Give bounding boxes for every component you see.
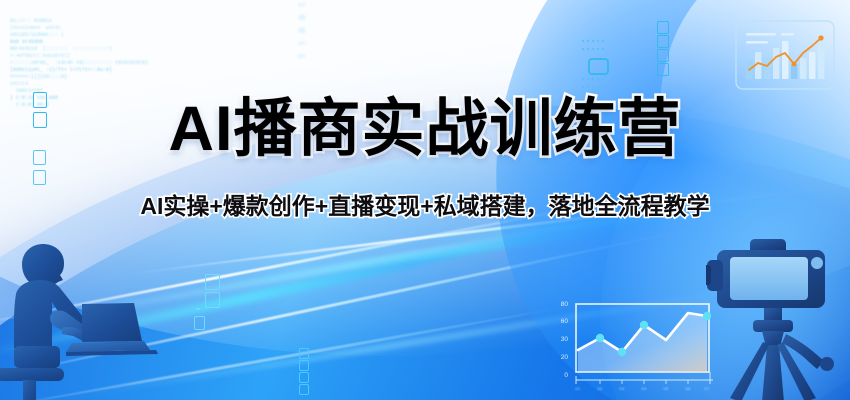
page-subtitle: AI实操+爆款创作+直播变现+私域搭建，落地全流程教学: [0, 187, 850, 221]
deco-square-wave-f: [299, 372, 309, 383]
deco-square-wave-e: [299, 360, 309, 371]
deco-square-col-a: [657, 21, 669, 34]
chart-y-tick-80: 80: [554, 301, 568, 308]
chart-x-tick-6: 06: [680, 386, 696, 391]
chart-x-tick-1: 01: [570, 386, 586, 391]
chart-y-tick-0: 0: [554, 372, 568, 379]
chart-x-tick-2: 02: [592, 386, 608, 391]
chart-y-tick-60: 60: [554, 318, 568, 325]
deco-square-wave-g: [299, 384, 309, 395]
deco-square-col-b: [657, 35, 669, 48]
deco-dot-wave: [196, 308, 200, 310]
deco-square-wave-c: [194, 316, 205, 330]
deco-square-wave-d: [299, 348, 309, 359]
deco-rounded-square: [588, 58, 609, 75]
bar-chart-growth-icon: [735, 20, 835, 90]
deco-square-col-d: [657, 63, 669, 76]
deco-square-tl-d: [33, 170, 46, 185]
person-at-laptop-icon: [0, 236, 179, 400]
deco-square-col-c: [657, 49, 669, 62]
chart-x-tick-4: 04: [636, 386, 652, 391]
camera-tripod-icon: [706, 230, 850, 400]
deco-binary-column: 1 0 0 1 1: [296, 2, 306, 60]
page-title: AI播商实战训练营: [0, 98, 850, 161]
chart-y-tick-20: 20: [554, 354, 568, 361]
chart-y-tick-30: 30: [554, 336, 568, 343]
line-chart: 80 60 30 20 0 01 02 03 04 05 06 07: [548, 300, 723, 395]
chart-x-tick-5: 05: [658, 386, 674, 391]
chart-x-tick-3: 03: [614, 386, 630, 391]
promo-banner: 01;//:: 010011 {dxvs1nmn4 w4t0c x011d2/1…: [0, 0, 850, 400]
deco-square-wave-b: [205, 292, 220, 308]
deco-square-wave-a: [205, 274, 220, 290]
chart-x-tick-7: 07: [699, 386, 715, 391]
